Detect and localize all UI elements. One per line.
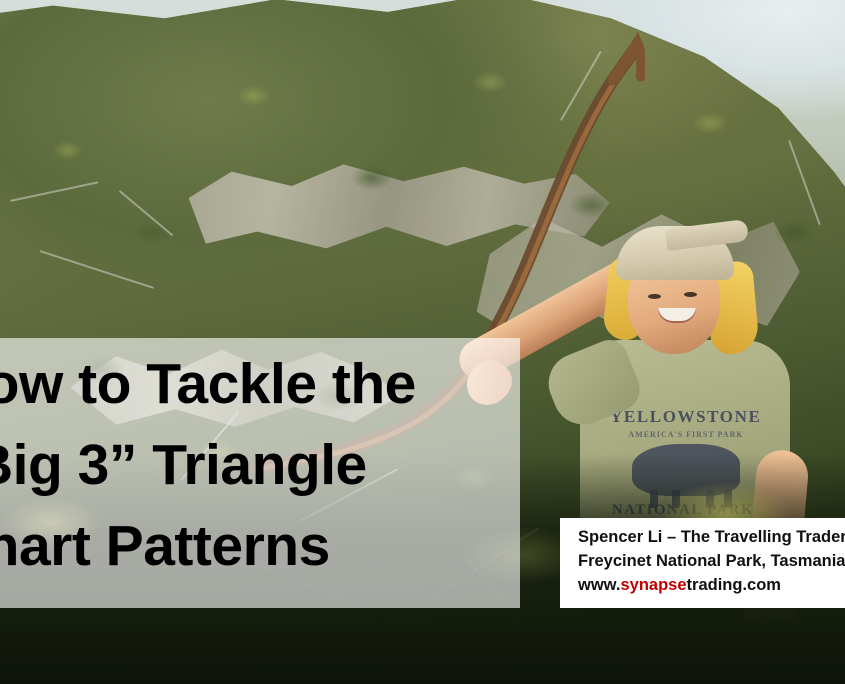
shirt-text-americas-first-park: AMERICA'S FIRST PARK — [616, 428, 756, 442]
url-suffix: trading.com — [687, 576, 781, 594]
caption-location: Freycinet National Park, Tasmania — [578, 549, 845, 573]
title-line-3: Chart Patterns — [0, 506, 520, 587]
caption-author: Spencer Li – The Travelling Trader — [578, 525, 845, 549]
eye-right — [684, 292, 697, 297]
title-line-1: How to Tackle the — [0, 344, 520, 425]
caption-box: Spencer Li – The Travelling Trader Freyc… — [560, 518, 845, 608]
shirt-text-yellowstone: YELLOWSTONE — [610, 406, 760, 428]
url-prefix: www. — [578, 576, 620, 594]
slide-canvas: YELLOWSTONE AMERICA'S FIRST PARK NATIONA… — [0, 0, 845, 684]
title-line-2: “Big 3” Triangle — [0, 425, 520, 506]
caption-website[interactable]: www.synapsetrading.com — [578, 573, 845, 597]
eye-left — [648, 294, 661, 299]
url-brand: synapse — [620, 576, 686, 594]
title-overlay-box: How to Tackle the “Big 3” Triangle Chart… — [0, 338, 520, 608]
